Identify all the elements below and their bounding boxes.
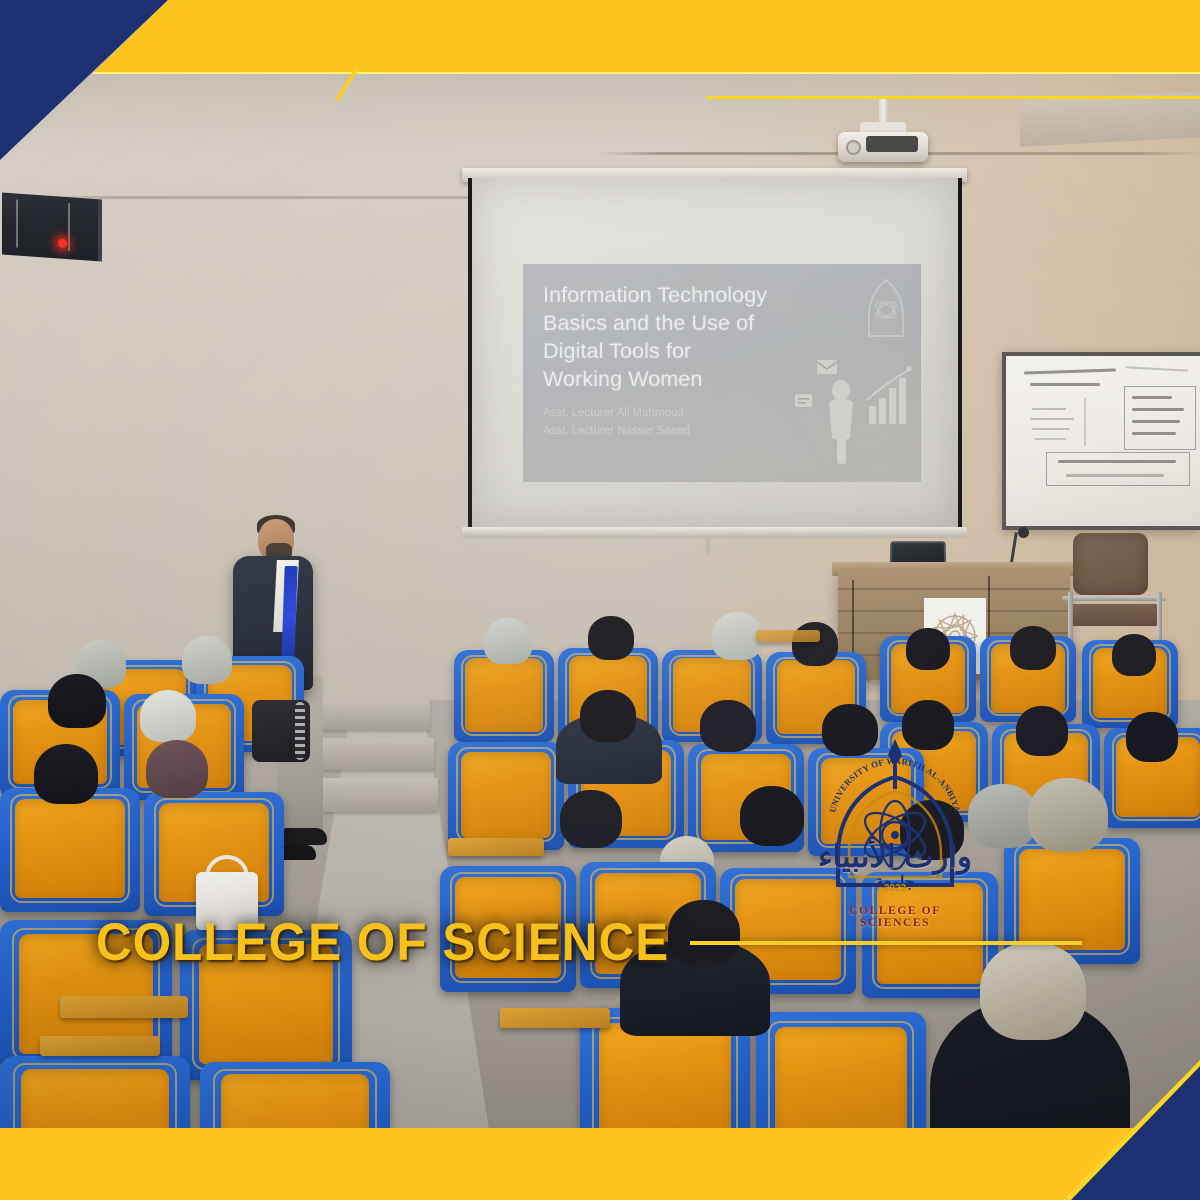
step — [306, 738, 434, 770]
university-emblem-icon: UNIVERSITY OF WARITH AL-ANBIYA — [812, 733, 978, 929]
page-title: COLLEGE OF SCIENCE — [96, 916, 669, 969]
seat-tablet-arm — [448, 838, 544, 856]
audience-headscarf — [34, 744, 98, 804]
step — [312, 778, 438, 812]
audience-head — [906, 628, 950, 670]
slide-title-line: Working Women — [543, 366, 823, 394]
microphone-head — [1018, 527, 1029, 538]
slide-title-line: Basics and the Use of — [543, 310, 823, 338]
audience-headscarf — [980, 942, 1086, 1040]
audience-headscarf — [484, 618, 532, 664]
speaker-grill-line — [16, 199, 18, 247]
diagonal-accent-slash — [333, 68, 367, 102]
auditorium-seat — [0, 788, 140, 912]
speaker-led-indicator — [58, 238, 67, 248]
projector-lens — [846, 140, 861, 155]
university-logo: UNIVERSITY OF WARITH AL-ANBIYA وارث الأن… — [812, 733, 978, 929]
slide-subtitle: Asst. Lecturer Ali Mahmoud Asst. Lecture… — [543, 405, 793, 441]
audience-head — [740, 786, 804, 846]
top-right-gold-rule — [706, 96, 1200, 99]
ceiling-rail — [1020, 91, 1200, 146]
brown-chair-back — [1073, 533, 1148, 595]
auditorium-seat — [448, 742, 564, 850]
audience-head — [1010, 626, 1056, 670]
audience-head — [580, 690, 636, 742]
seat-tablet-arm — [60, 996, 188, 1018]
slide-presenter-name: Asst. Lecturer Nasser Saeed — [543, 423, 793, 441]
audience-head — [1126, 712, 1178, 762]
projector-top-panel — [866, 136, 918, 152]
projection-screen-bottom-bar — [462, 527, 967, 538]
whiteboard — [1002, 352, 1200, 530]
audience-head — [1112, 634, 1156, 676]
event-photo-card: Information Technology Basics and the Us… — [0, 0, 1200, 1200]
bottom-yellow-band — [0, 1128, 1200, 1200]
audience-headscarf — [1028, 778, 1108, 852]
audience-headscarf — [140, 690, 196, 742]
audience-head — [1016, 706, 1068, 756]
slide-university-emblem-icon — [865, 278, 907, 340]
audience-headscarf — [182, 636, 232, 684]
bag-studs — [295, 702, 305, 760]
seat-tablet-arm — [500, 1008, 610, 1028]
top-yellow-band — [0, 0, 1200, 74]
logo-caption: COLLEGE OF SCIENCES — [812, 905, 978, 929]
audience-head — [792, 622, 838, 666]
brown-chair-seat — [1068, 604, 1160, 626]
audience-headscarf — [48, 674, 106, 728]
wordmark-gold-rule — [690, 941, 1082, 945]
audience-head — [588, 616, 634, 660]
slide-artwork-illustration — [795, 356, 913, 468]
slide-title-line: Digital Tools for — [543, 338, 823, 366]
logo-arabic-main: وارث الأنبياء — [812, 841, 978, 872]
slide-title-line: Information Technology — [543, 282, 823, 310]
audience-head — [668, 900, 740, 966]
brown-chair-arm — [1062, 596, 1166, 601]
audience-headscarf — [146, 740, 208, 798]
slide-presenter-name: Asst. Lecturer Ali Mahmoud — [543, 405, 793, 423]
projection-screen-handle — [706, 537, 710, 554]
audience-headscarf — [712, 612, 762, 660]
seat-tablet-arm — [40, 1036, 160, 1056]
slide-title: Information Technology Basics and the Us… — [543, 282, 823, 394]
audience-head — [560, 790, 622, 848]
projected-slide: Information Technology Basics and the Us… — [523, 264, 921, 482]
logo-year: 2023 — [812, 883, 978, 894]
speaker-grill-line — [68, 203, 70, 251]
presenter-shoe — [281, 828, 327, 845]
seat-tablet-arm — [756, 630, 820, 642]
lecture-hall-photo: Information Technology Basics and the Us… — [0, 0, 1200, 1200]
audience-head — [700, 700, 756, 752]
wall-speaker-icon — [2, 193, 102, 262]
